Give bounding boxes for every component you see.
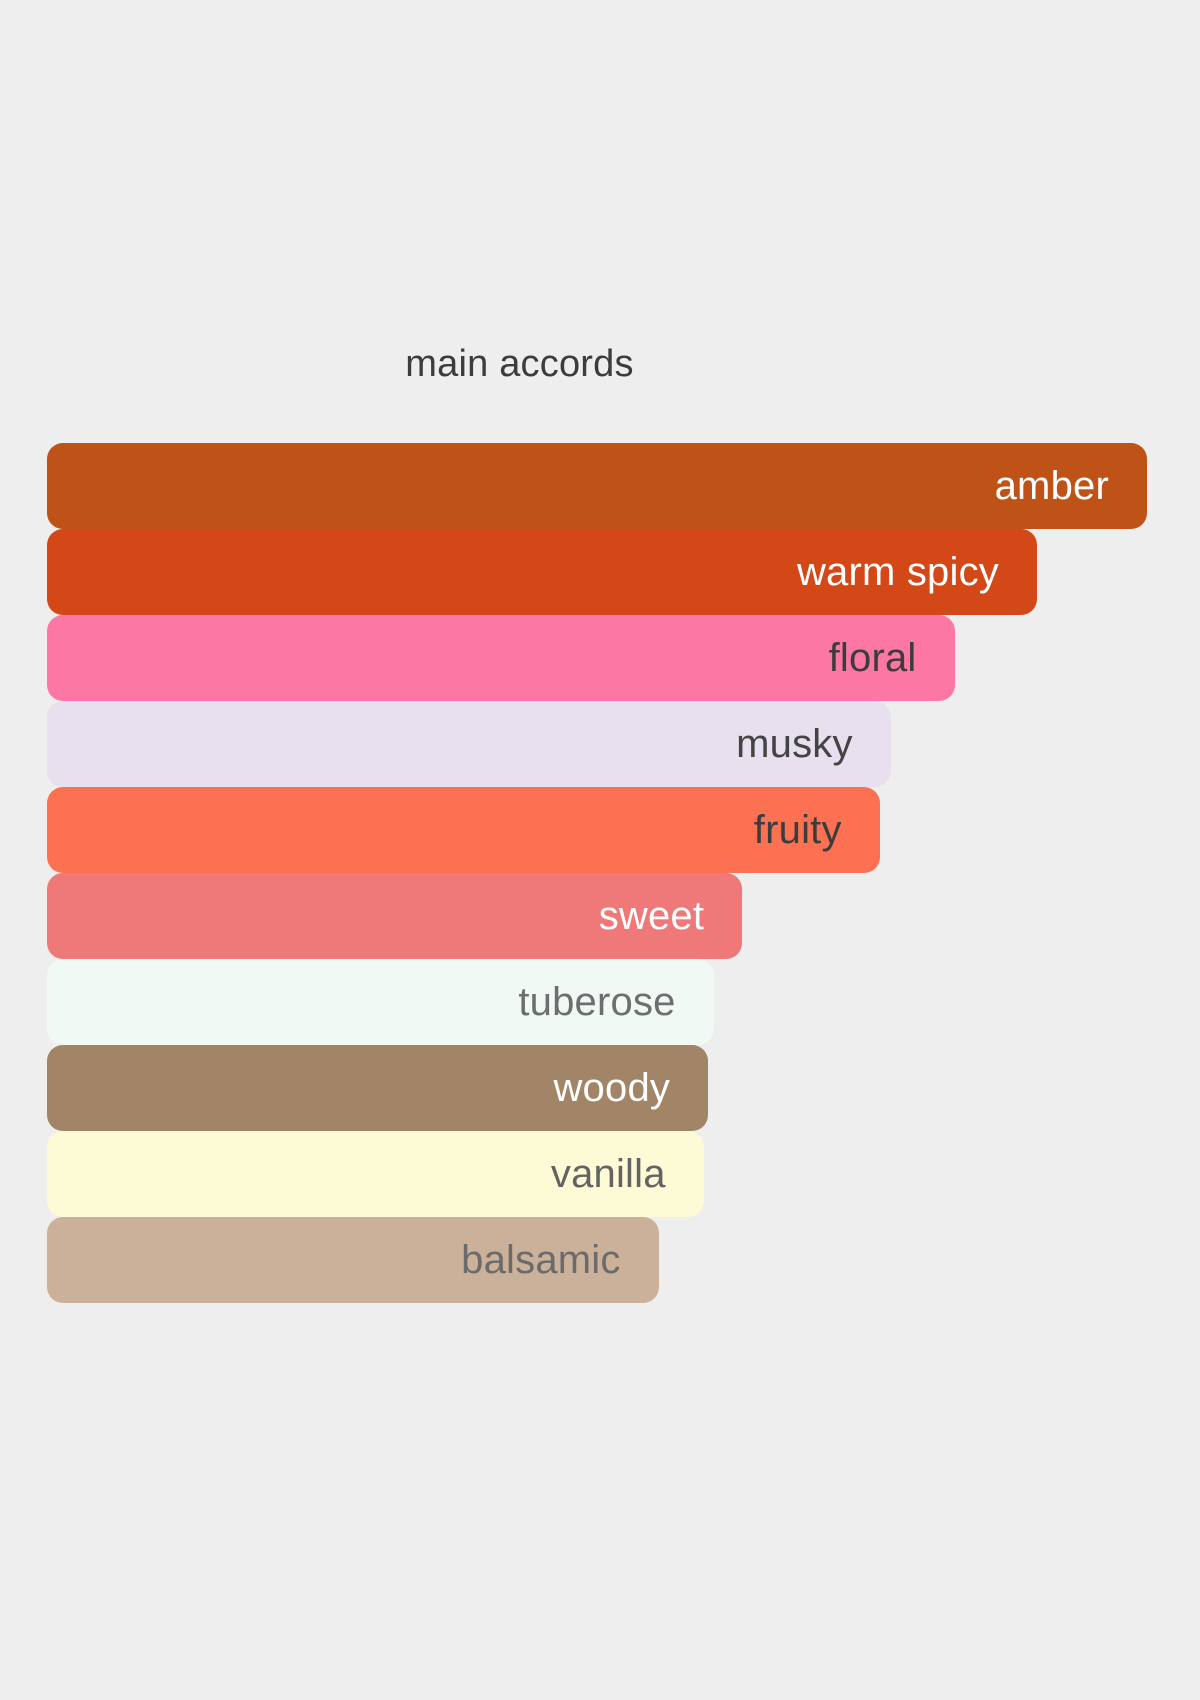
accord-bar-label: amber [995,466,1147,506]
accord-bar-row: woody [47,1045,1147,1131]
accord-bar[interactable]: floral [47,615,955,701]
chart-title: main accords [47,345,992,383]
accord-bar-label: tuberose [518,982,713,1022]
accord-bar-label: vanilla [551,1154,704,1194]
accord-bar-row: sweet [47,873,1147,959]
main-accords-chart: main accords amberwarm spicyfloralmuskyf… [0,0,1200,1700]
accord-bar-row: fruity [47,787,1147,873]
accord-bar-row: balsamic [47,1217,1147,1303]
accord-bar[interactable]: amber [47,443,1147,529]
accord-bar[interactable]: musky [47,701,891,787]
accord-bar-row: vanilla [47,1131,1147,1217]
accord-bar-label: floral [829,638,955,678]
accord-bar[interactable]: fruity [47,787,880,873]
accord-bar[interactable]: tuberose [47,959,714,1045]
accord-bar[interactable]: sweet [47,873,742,959]
accord-bar-row: musky [47,701,1147,787]
accord-bar-row: amber [47,443,1147,529]
accord-bar[interactable]: balsamic [47,1217,659,1303]
accord-bar-row: tuberose [47,959,1147,1045]
accord-bar-label: warm spicy [797,552,1037,592]
accord-bar-label: fruity [754,810,880,850]
accord-bar-row: warm spicy [47,529,1147,615]
accord-bar-label: musky [736,724,891,764]
accord-bar[interactable]: vanilla [47,1131,704,1217]
accord-bar-row: floral [47,615,1147,701]
accord-bar-label: woody [553,1068,708,1108]
accord-bar-label: sweet [599,896,743,936]
accord-bar-label: balsamic [461,1240,658,1280]
accord-bar[interactable]: woody [47,1045,708,1131]
accord-bar-list: amberwarm spicyfloralmuskyfruitysweettub… [47,443,1147,1303]
accord-bar[interactable]: warm spicy [47,529,1037,615]
